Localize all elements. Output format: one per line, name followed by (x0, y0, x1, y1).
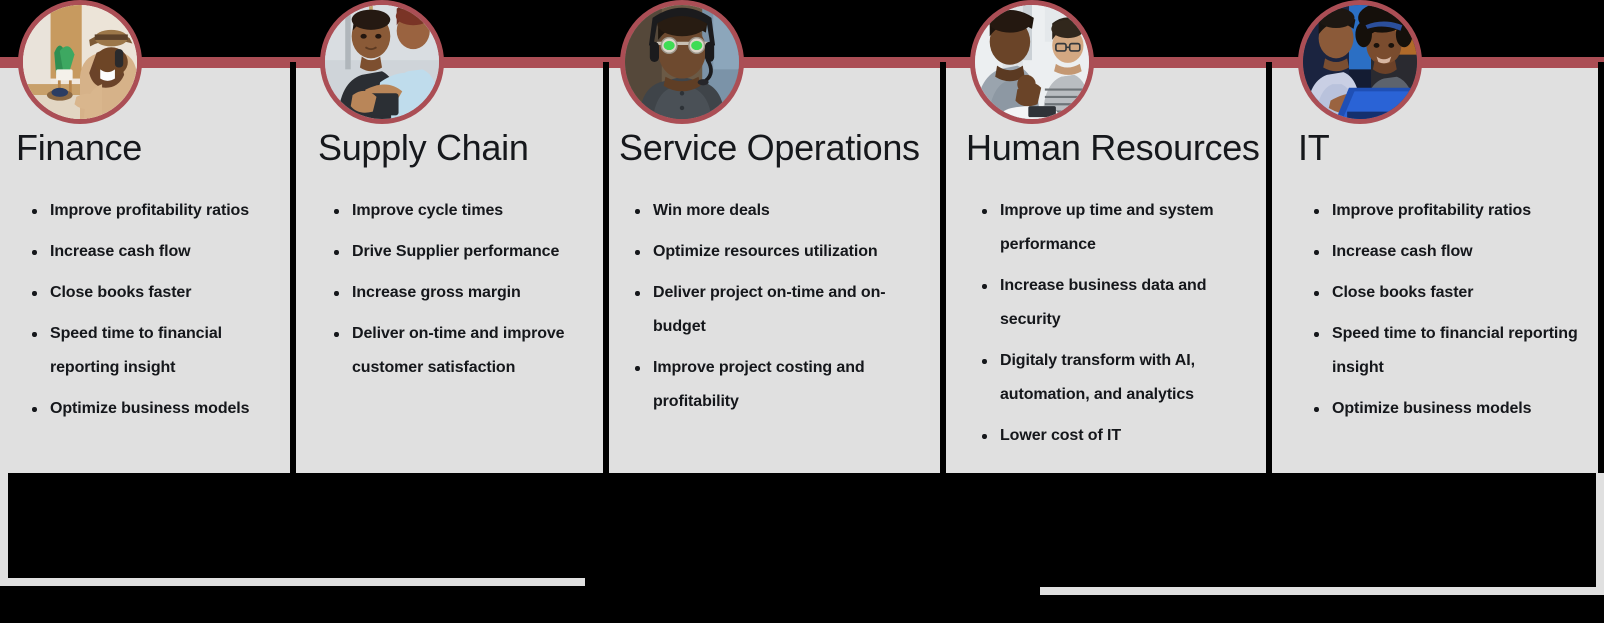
column-service-operations[interactable]: Service Operations Win more deals Optimi… (609, 62, 940, 473)
service-operations-avatar-photo (620, 0, 744, 124)
column-divider-4 (1266, 62, 1272, 473)
supply-chain-avatar-photo (320, 0, 444, 124)
column-human-resources[interactable]: Human Resources Improve up time and syst… (946, 62, 1266, 473)
bullet-list-human-resources: Improve up time and system performance I… (978, 194, 1250, 460)
list-item: Improve profitability ratios (1310, 194, 1590, 228)
column-title-finance: Finance (16, 130, 142, 166)
list-item: Close books faster (1310, 276, 1590, 310)
list-item: Close books faster (28, 276, 290, 310)
bottom-strip-left (0, 578, 585, 586)
list-item: Speed time to financial reporting insigh… (28, 317, 290, 385)
list-item: Increase cash flow (1310, 235, 1590, 269)
column-title-service-operations: Service Operations (619, 130, 920, 166)
list-item: Drive Supplier performance (330, 235, 580, 269)
list-item: Optimize business models (28, 392, 290, 426)
it-avatar-photo (1298, 0, 1422, 124)
bullet-list-finance: Improve profitability ratios Increase ca… (28, 194, 290, 433)
list-item: Improve up time and system performance (978, 194, 1250, 262)
list-item: Improve project costing and profitabilit… (631, 351, 921, 419)
list-item: Digitaly transform with AI, automation, … (978, 344, 1250, 412)
list-item: Improve cycle times (330, 194, 580, 228)
list-item: Win more deals (631, 194, 921, 228)
list-item: Increase cash flow (28, 235, 290, 269)
bullet-list-supply-chain: Improve cycle times Drive Supplier perfo… (330, 194, 580, 392)
column-title-it: IT (1298, 130, 1329, 166)
list-item: Increase business data and security (978, 269, 1250, 337)
column-supply-chain[interactable]: Supply Chain Improve cycle times Drive S… (296, 62, 603, 473)
list-item: Increase gross margin (330, 276, 580, 310)
list-item: Lower cost of IT (978, 419, 1250, 453)
list-item: Deliver project on-time and on-budget (631, 276, 921, 344)
list-item: Speed time to financial reporting insigh… (1310, 317, 1590, 385)
finance-avatar-photo (18, 0, 142, 124)
bullet-list-it: Improve profitability ratios Increase ca… (1310, 194, 1590, 433)
list-item: Improve profitability ratios (28, 194, 290, 228)
human-resources-avatar-photo (970, 0, 1094, 124)
column-divider-1 (290, 62, 296, 473)
column-divider-2 (603, 62, 609, 473)
slide-canvas: Finance Improve profitability ratios Inc… (0, 0, 1604, 623)
bottom-right-edge-strip (1596, 473, 1604, 595)
column-title-human-resources: Human Resources (966, 130, 1260, 166)
bullet-list-service-operations: Win more deals Optimize resources utiliz… (631, 194, 921, 426)
column-divider-3 (940, 62, 946, 473)
column-finance[interactable]: Finance Improve profitability ratios Inc… (16, 62, 290, 473)
list-item: Optimize resources utilization (631, 235, 921, 269)
column-title-supply-chain: Supply Chain (318, 130, 529, 166)
column-it[interactable]: IT Improve profitability ratios Increase… (1272, 62, 1598, 473)
bottom-left-edge-strip (0, 473, 8, 585)
list-item: Deliver on-time and improve customer sat… (330, 317, 580, 385)
list-item: Optimize business models (1310, 392, 1590, 426)
bottom-strip-right (1040, 587, 1597, 595)
column-divider-5 (1598, 62, 1604, 473)
